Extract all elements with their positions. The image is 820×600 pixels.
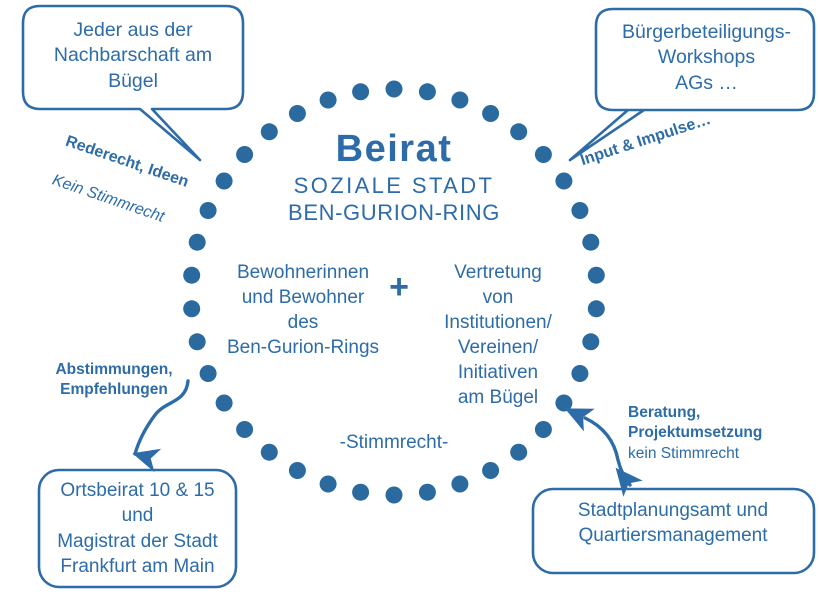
ring-dot — [482, 105, 499, 122]
ring-dot — [320, 476, 337, 493]
ring-dot — [482, 462, 499, 479]
connector-label-bottom-right-line2: Projektumsetzung — [628, 423, 808, 443]
center-subtitle-1: SOZIALE STADT — [244, 173, 544, 199]
ring-dot — [289, 105, 306, 122]
ring-dot — [320, 92, 337, 109]
ring-dot — [555, 173, 572, 190]
ring-dot — [189, 234, 206, 251]
box-bottom-left-text: Ortsbeirat 10 & 15 und Magistrat der Sta… — [40, 478, 235, 580]
bubble-top-right-text: Bürgerbeteiligungs- Workshops AGs … — [604, 20, 809, 96]
ring-dot — [189, 333, 206, 350]
ring-dot — [216, 173, 233, 190]
ring-dot — [451, 476, 468, 493]
center-column-right: Vertretung von Institutionen/ Vereinen/ … — [418, 260, 578, 410]
ring-dot — [386, 81, 403, 98]
ring-dot — [535, 421, 552, 438]
bubble-top-left-text: Jeder aus der Nachbarschaft am Bügel — [30, 18, 236, 94]
box-bottom-right-text: Stadtplanungsamt und Quartiersmanagement — [536, 498, 810, 549]
ring-dot — [200, 202, 217, 219]
ring-dot — [571, 202, 588, 219]
ring-dot — [236, 421, 253, 438]
ring-dot — [451, 92, 468, 109]
center-footer-stimmrecht: -Stimmrecht- — [294, 432, 494, 454]
diagram-canvas: Jeder aus der Nachbarschaft am Bügel Bür… — [0, 0, 820, 600]
ring-dot — [289, 462, 306, 479]
connector-label-bottom-right: Beratung, Projektumsetzung kein Stimmrec… — [628, 403, 808, 464]
ring-dot — [183, 300, 200, 317]
ring-dot — [352, 484, 369, 501]
center-column-left: Bewohnerinnen und Bewohner des Ben-Gurio… — [218, 260, 388, 360]
ring-dot — [588, 300, 605, 317]
ring-dot — [352, 83, 369, 100]
center-title: Beirat — [244, 128, 544, 171]
ring-dot — [510, 444, 527, 461]
ring-dot — [419, 484, 436, 501]
ring-dot — [582, 234, 599, 251]
ring-dot — [183, 267, 200, 284]
ring-dot — [200, 365, 217, 382]
ring-dot — [261, 444, 278, 461]
ring-dot — [588, 267, 605, 284]
plus-icon: + — [386, 274, 412, 300]
ring-dot — [419, 83, 436, 100]
connector-label-bottom-right-line3: kein Stimmrecht — [628, 444, 808, 464]
connector-label-bottom-left: Abstimmungen, Empfehlungen — [34, 360, 194, 401]
arrow-bottom-right — [585, 418, 630, 485]
ring-dot — [386, 487, 403, 504]
arrow-path-br — [585, 418, 630, 485]
center-subtitle-2: BEN-GURION-RING — [244, 200, 544, 226]
connector-label-bottom-right-line1: Beratung, — [628, 403, 808, 423]
ring-dot — [216, 395, 233, 412]
ring-dot — [582, 333, 599, 350]
